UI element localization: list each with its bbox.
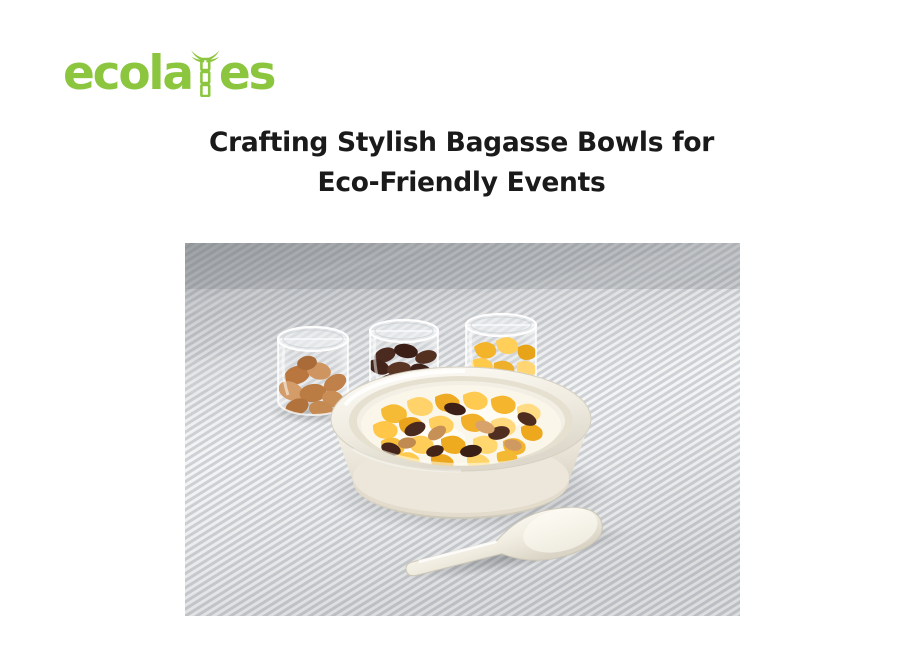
page-title-line-1: Crafting Stylish Bagasse Bowls for bbox=[0, 123, 923, 163]
page-title-line-2: Eco-Friendly Events bbox=[0, 163, 923, 203]
brand-logo[interactable]: ecola es bbox=[63, 44, 274, 98]
bamboo-stalk-icon bbox=[190, 45, 220, 97]
page-title: Crafting Stylish Bagasse Bowls for Eco-F… bbox=[0, 123, 923, 203]
hero-photo bbox=[185, 243, 740, 616]
hero-photo-illustration bbox=[185, 243, 740, 616]
logo-text-before-stalk: ecola bbox=[63, 50, 192, 97]
logo-text-after-stalk: es bbox=[219, 50, 274, 97]
logo-wordmark: ecola es bbox=[63, 45, 274, 97]
